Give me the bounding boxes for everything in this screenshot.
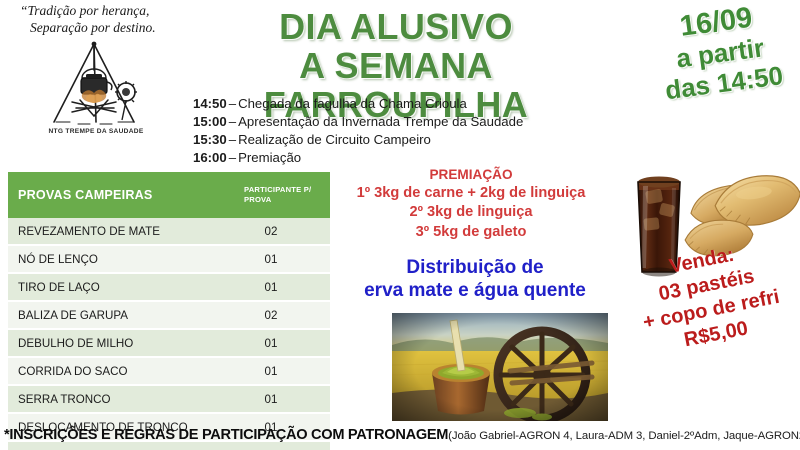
cell-prova: CORRIDA DO SACO [8, 357, 236, 385]
table-row: CORRIDA DO SACO 01 [8, 357, 330, 385]
schedule-dash: – [227, 96, 238, 111]
cell-prova: NÓ DE LENÇO [8, 245, 236, 273]
table-header-row: PROVAS CAMPEIRAS PARTICIPANTE P/ PROVA [8, 172, 330, 218]
schedule-row: 16:00–Premiação [193, 149, 613, 167]
cell-prova: TIRO DE LAÇO [8, 273, 236, 301]
column-header-participantes: PARTICIPANTE P/ PROVA [236, 172, 330, 218]
schedule-text: Premiação [238, 150, 301, 165]
schedule-time: 16:00 [193, 150, 227, 165]
premiacao-place-3: 3º 5kg de galeto [330, 223, 612, 242]
schedule-dash: – [227, 114, 238, 129]
organization-logo-block: “Tradição por herança, Separação por des… [16, 2, 196, 144]
title-line-1: DIA ALUSIVO [170, 8, 622, 47]
schedule-dash: – [227, 132, 238, 147]
distribuicao-line-1: Distribuição de [340, 256, 610, 279]
cell-prova: REVEZAMENTO DE MATE [8, 218, 236, 245]
event-poster: “Tradição por herança, Separação por des… [0, 0, 800, 450]
table-row: SERRA TRONCO 01 [8, 385, 330, 413]
table-row: REVEZAMENTO DE MATE 02 [8, 218, 330, 245]
cell-prova: SERRA TRONCO [8, 385, 236, 413]
column-header-prova: PROVAS CAMPEIRAS [8, 172, 236, 218]
cell-participantes: 01 [236, 357, 330, 385]
mate-gourd-wagon-wheel-photo [392, 313, 608, 421]
campfire-tripod-kettle-icon [34, 38, 154, 130]
column-header-participantes-line2: PROVA [244, 195, 271, 204]
cell-participantes: 02 [236, 218, 330, 245]
table-row: NÓ DE LENÇO 01 [8, 245, 330, 273]
schedule-row: 15:00–Apresentação da Invernada Trempe d… [193, 113, 613, 131]
schedule-row: 15:30–Realização de Circuito Campeiro [193, 131, 613, 149]
premiacao-place-2: 2º 3kg de linguiça [330, 203, 612, 222]
cell-prova: BALIZA DE GARUPA [8, 301, 236, 329]
cell-participantes: 01 [236, 329, 330, 357]
schedule-text: Apresentação da Invernada Trempe da Saud… [238, 114, 523, 129]
schedule-text: Chegada da fagulha da Chama Crioula [238, 96, 467, 111]
schedule-time: 15:30 [193, 132, 227, 147]
footer-names-text: (João Gabriel-AGRON 4, Laura-ADM 3, Dani… [448, 430, 800, 442]
event-date-block: 16/09 a partir das 14:50 [631, 0, 800, 109]
table-row: DEBULHO DE MILHO 01 [8, 329, 330, 357]
premiacao-block: PREMIAÇÃO 1º 3kg de carne + 2kg de lingu… [330, 166, 612, 242]
schedule-time: 15:00 [193, 114, 227, 129]
event-schedule: 14:50–Chegada da fagulha da Chama Crioul… [193, 95, 613, 167]
provas-campeiras-table: PROVAS CAMPEIRAS PARTICIPANTE P/ PROVA R… [8, 172, 330, 450]
premiacao-place-1: 1º 3kg de carne + 2kg de linguiça [330, 184, 612, 203]
cell-participantes: 01 [236, 245, 330, 273]
footer-note: *INSCRIÇÕES E REGRAS DE PARTICIPAÇÃO COM… [4, 426, 798, 444]
distribuicao-block: Distribuição de erva mate e água quente [340, 256, 610, 302]
column-header-participantes-line1: PARTICIPANTE P/ [244, 185, 311, 194]
table-row: BALIZA DE GARUPA 02 [8, 301, 330, 329]
schedule-text: Realização de Circuito Campeiro [238, 132, 431, 147]
distribuicao-line-2: erva mate e água quente [340, 279, 610, 302]
logo-caption: NTG TREMPE DA SAUDADE [26, 128, 166, 135]
premiacao-heading: PREMIAÇÃO [330, 166, 612, 184]
cell-participantes: 01 [236, 385, 330, 413]
schedule-dash: – [227, 150, 238, 165]
table-row: TIRO DE LAÇO 01 [8, 273, 330, 301]
cell-prova: DEBULHO DE MILHO [8, 329, 236, 357]
schedule-time: 14:50 [193, 96, 227, 111]
cell-participantes: 02 [236, 301, 330, 329]
footer-main-text: *INSCRIÇÕES E REGRAS DE PARTICIPAÇÃO COM… [4, 427, 448, 443]
cell-participantes: 01 [236, 273, 330, 301]
schedule-row: 14:50–Chegada da fagulha da Chama Crioul… [193, 95, 613, 113]
